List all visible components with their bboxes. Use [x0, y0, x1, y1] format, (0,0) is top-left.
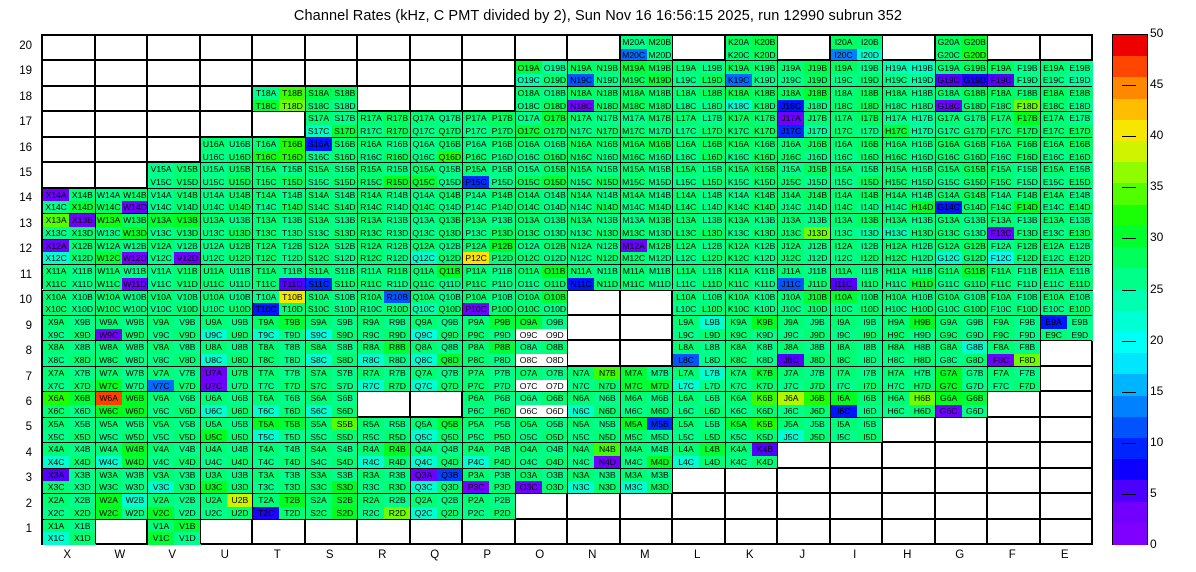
channel-Q13B: Q13B — [437, 214, 463, 227]
channel-J13B: J13B — [804, 214, 830, 227]
channel-H19B: H19B — [909, 61, 935, 74]
x-tick-O: O — [510, 549, 570, 561]
heatmap-cell-I8: I8AI8BI8CI8D — [830, 340, 883, 365]
channel-L5B: L5B — [699, 418, 725, 431]
heatmap-cell-K9: K9AK9BK9CK9D — [725, 315, 778, 340]
channel-I10A: I10A — [831, 291, 857, 304]
channel-S8B: S8B — [332, 341, 358, 354]
channel-N13A: N13A — [568, 214, 594, 227]
channel-J16A: J16A — [778, 138, 804, 151]
channel-P9B: P9B — [489, 316, 515, 329]
heatmap-cell-N14: N14AN14BN14CN14D — [567, 188, 620, 213]
heatmap-cell-H17: H17AH17BH17CH17D — [882, 111, 935, 136]
heatmap-cell-S19 — [305, 60, 358, 85]
channel-H10B: H10B — [909, 291, 935, 304]
channel-K8B: K8B — [752, 341, 778, 354]
channel-O7A: O7A — [516, 367, 542, 380]
heatmap-cell-M11: M11AM11BM11CM11D — [620, 264, 673, 289]
x-tick-G: G — [930, 549, 990, 561]
heatmap-cell-M17: M17AM17BM17CM17D — [620, 111, 673, 136]
channel-Q12A: Q12A — [411, 240, 437, 253]
y-tick-3: 3 — [0, 472, 32, 484]
channel-E9A: E9A — [1041, 316, 1067, 329]
heatmap-cell-S3: S3AS3BS3CS3D — [305, 468, 358, 493]
channel-O13A: O13A — [516, 214, 542, 227]
channel-G10A: G10A — [936, 291, 962, 304]
heatmap-cell-E16: E16AE16BE16CE16D — [1040, 137, 1093, 162]
heatmap-cell-K8: K8AK8BK8CK8D — [725, 340, 778, 365]
channel-T3B: T3B — [279, 469, 305, 482]
colorbar-band-22 — [1113, 502, 1147, 524]
channel-O19B: O19B — [542, 61, 568, 74]
channel-R9B: R9B — [384, 316, 410, 329]
heatmap-cell-N15: N15AN15BN15CN15D — [567, 162, 620, 187]
heatmap-cell-Q12: Q12AQ12BQ12CQ12D — [410, 239, 463, 264]
heatmap-cell-O8: O8AO8BO8CO8D — [515, 340, 568, 365]
heatmap-cell-L19: L19AL19BL19CL19D — [672, 60, 725, 85]
heatmap-cell-P3: P3AP3BP3CP3D — [462, 468, 515, 493]
channel-I8B: I8B — [857, 341, 883, 354]
heatmap-cell-U12: U12AU12BU12CU12D — [200, 239, 253, 264]
heatmap-cell-L9: L9AL9BL9CL9D — [672, 315, 725, 340]
channel-U6A: U6A — [201, 392, 227, 405]
channel-K15A: K15A — [726, 163, 752, 176]
heatmap-cell-T10: T10AT10BT10CT10D — [252, 290, 305, 315]
channel-N16A: N16A — [568, 138, 594, 151]
y-tick-11: 11 — [0, 269, 32, 281]
channel-S13A: S13A — [306, 214, 332, 227]
channel-G11B: G11B — [962, 265, 988, 278]
heatmap-cell-H18: H18AH18BH18CH18D — [882, 86, 935, 111]
channel-M3B: M3B — [647, 469, 673, 482]
channel-W2A: W2A — [96, 494, 122, 507]
channel-E19A: E19A — [1041, 61, 1067, 74]
channel-J14B: J14B — [804, 189, 830, 202]
heatmap-cell-N16: N16AN16BN16CN16D — [567, 137, 620, 162]
y-tick-1: 1 — [0, 523, 32, 535]
heatmap-cell-X20 — [42, 35, 95, 60]
heatmap-cell-M6: M6AM6BM6CM6D — [620, 391, 673, 416]
heatmap-cell-K12: K12AK12BK12CK12D — [725, 239, 778, 264]
heatmap-cell-G5 — [935, 417, 988, 442]
x-tick-E: E — [1035, 549, 1095, 561]
heatmap-cell-N4: N4AN4BN4CN4D — [567, 442, 620, 467]
channel-H15A: H15A — [883, 163, 909, 176]
heatmap-cell-M10 — [620, 290, 673, 315]
x-tick-Q: Q — [405, 549, 465, 561]
heatmap-cell-I17: I17AI17BI17CI17D — [830, 111, 883, 136]
channel-S7B: S7B — [332, 367, 358, 380]
x-tick-K: K — [720, 549, 780, 561]
heatmap-cell-U2: U2AU2BU2CU2D — [200, 493, 253, 518]
heatmap-cell-E7 — [1040, 366, 1093, 391]
heatmap-cell-V9: V9AV9BV9CV9D — [147, 315, 200, 340]
heatmap-cell-H10: H10AH10BH10CH10D — [882, 290, 935, 315]
heatmap-cell-F2 — [987, 493, 1040, 518]
channel-O18B: O18B — [542, 87, 568, 100]
heatmap-cell-R12: R12AR12BR12CR12D — [357, 239, 410, 264]
channel-M17A: M17A — [621, 112, 647, 125]
channel-V4A: V4A — [148, 443, 174, 456]
heatmap-cell-R3: R3AR3BR3CR3D — [357, 468, 410, 493]
channel-F12A: F12A — [988, 240, 1014, 253]
channel-O15B: O15B — [542, 163, 568, 176]
channel-F19A: F19A — [988, 61, 1014, 74]
channel-J17A: J17A — [778, 112, 804, 125]
heatmap-cell-W9: W9AW9BW9CW9D — [95, 315, 148, 340]
heatmap-cell-O12: O12AO12BO12CO12D — [515, 239, 568, 264]
heatmap-cell-S17: S17AS17BS17CS17D — [305, 111, 358, 136]
channel-L8A: L8A — [673, 341, 699, 354]
channel-H18A: H18A — [883, 87, 909, 100]
channel-Q16A: Q16A — [411, 138, 437, 151]
heatmap-cell-N3: N3AN3BN3CN3D — [567, 468, 620, 493]
channel-P10A: P10A — [463, 291, 489, 304]
channel-N19B: N19B — [594, 61, 620, 74]
heatmap-cell-O15: O15AO15BO15CO15D — [515, 162, 568, 187]
heatmap-cell-E1 — [1040, 519, 1093, 544]
channel-Q10A: Q10A — [411, 291, 437, 304]
channel-N17A: N17A — [568, 112, 594, 125]
x-tick-V: V — [142, 549, 202, 561]
channel-K9B: K9B — [752, 316, 778, 329]
channel-X12A: X12A — [43, 240, 69, 253]
heatmap-cell-P5: P5AP5BP5CP5D — [462, 417, 515, 442]
heatmap-cell-G13: G13AG13BG13CG13D — [935, 213, 988, 238]
heatmap-cell-V19 — [147, 60, 200, 85]
heatmap-cell-W17 — [95, 111, 148, 136]
heatmap-cell-I12: I12AI12BI12CI12D — [830, 239, 883, 264]
heatmap-cell-J17: J17AJ17BJ17CJ17D — [777, 111, 830, 136]
channel-T5B: T5B — [279, 418, 305, 431]
x-tick-U: U — [195, 549, 255, 561]
channel-R15A: R15A — [358, 163, 384, 176]
channel-O7B: O7B — [542, 367, 568, 380]
heatmap-cell-U1 — [200, 519, 253, 544]
colorbar-tick-35: 35 — [1150, 179, 1163, 193]
heatmap-cell-M8 — [620, 340, 673, 365]
channel-I13A: I13A — [831, 214, 857, 227]
channel-M13B: M13B — [647, 214, 673, 227]
channel-O6B: O6B — [542, 392, 568, 405]
heatmap-cell-W16 — [95, 137, 148, 162]
channel-F18A: F18A — [988, 87, 1014, 100]
channel-V10A: V10A — [148, 291, 174, 304]
heatmap-cell-V6: V6AV6BV6CV6D — [147, 391, 200, 416]
heatmap-cell-P18 — [462, 86, 515, 111]
channel-E11A: E11A — [1041, 265, 1067, 278]
heatmap-cell-U3: U3AU3BU3CU3D — [200, 468, 253, 493]
heatmap-cell-M13: M13AM13BM13CM13D — [620, 213, 673, 238]
channel-F14B: F14B — [1014, 189, 1040, 202]
channel-E13A: E13A — [1041, 214, 1067, 227]
channel-R15B: R15B — [384, 163, 410, 176]
heatmap-cell-L20 — [672, 35, 725, 60]
channel-N18B: N18B — [594, 87, 620, 100]
channel-L16A: L16A — [673, 138, 699, 151]
channel-Q10B: Q10B — [437, 291, 463, 304]
channel-U9A: U9A — [201, 316, 227, 329]
channel-U12B: U12B — [227, 240, 253, 253]
channel-R9A: R9A — [358, 316, 384, 329]
channel-N6A: N6A — [568, 392, 594, 405]
heatmap-cell-O11: O11AO11BO11CO11D — [515, 264, 568, 289]
heatmap-cell-P19 — [462, 60, 515, 85]
channel-F18B: F18B — [1014, 87, 1040, 100]
heatmap-cell-F10: F10AF10BF10CF10D — [987, 290, 1040, 315]
heatmap-cell-R2: R2AR2BR2CR2D — [357, 493, 410, 518]
heatmap-cell-O5: O5AO5BO5CO5D — [515, 417, 568, 442]
channel-I6A: I6A — [831, 392, 857, 405]
channel-T8A: T8A — [253, 341, 279, 354]
channel-R5B: R5B — [384, 418, 410, 431]
channel-Q13A: Q13A — [411, 214, 437, 227]
heatmap-cell-E20 — [1040, 35, 1093, 60]
channel-W9A: W9A — [96, 316, 122, 329]
heatmap-cell-N6: N6AN6BN6CN6D — [567, 391, 620, 416]
heatmap-cell-O3: O3AO3BO3CO3D — [515, 468, 568, 493]
channel-T8B: T8B — [279, 341, 305, 354]
channel-I17A: I17A — [831, 112, 857, 125]
channel-K15B: K15B — [752, 163, 778, 176]
channel-N13B: N13B — [594, 214, 620, 227]
channel-Q7B: Q7B — [437, 367, 463, 380]
heatmap-cell-Q13: Q13AQ13BQ13CQ13D — [410, 213, 463, 238]
channel-L14A: L14A — [673, 189, 699, 202]
channel-L4B: L4B — [699, 443, 725, 456]
channel-X3A: X3A — [43, 469, 69, 482]
heatmap-cell-L14: L14AL14BL14CL14D — [672, 188, 725, 213]
channel-M11A: M11A — [621, 265, 647, 278]
channel-K20A: K20A — [726, 36, 752, 49]
x-tick-I: I — [825, 549, 885, 561]
heatmap-cell-R14: R14AR14BR14CR14D — [357, 188, 410, 213]
heatmap-cell-R16: R16AR16BR16CR16D — [357, 137, 410, 162]
y-tick-18: 18 — [0, 91, 32, 103]
channel-L15B: L15B — [699, 163, 725, 176]
heatmap-cell-P16: P16AP16BP16CP16D — [462, 137, 515, 162]
heatmap-cell-J4 — [777, 442, 830, 467]
channel-L10B: L10B — [699, 291, 725, 304]
heatmap-cell-V13: V13AV13BV13CV13D — [147, 213, 200, 238]
channel-Q4A: Q4A — [411, 443, 437, 456]
channel-J7A: J7A — [778, 367, 804, 380]
channel-N12B: N12B — [594, 240, 620, 253]
channel-U7B: U7B — [227, 367, 253, 380]
channel-S3B: S3B — [332, 469, 358, 482]
heatmap-cell-N18: N18AN18BN18CN18D — [567, 86, 620, 111]
y-tick-9: 9 — [0, 320, 32, 332]
heatmap-cell-E17: E17AE17BE17CE17D — [1040, 111, 1093, 136]
heatmap-cell-Q10: Q10AQ10BQ10CQ10D — [410, 290, 463, 315]
channel-T7A: T7A — [253, 367, 279, 380]
channel-I18A: I18A — [831, 87, 857, 100]
channel-R8A: R8A — [358, 341, 384, 354]
channel-V10B: V10B — [174, 291, 200, 304]
heatmap-cell-E6 — [1040, 391, 1093, 416]
heatmap-cell-W2: W2AW2BW2CW2D — [95, 493, 148, 518]
channel-O11B: O11B — [542, 265, 568, 278]
x-tick-L: L — [667, 549, 727, 561]
heatmap-cell-K13: K13AK13BK13CK13D — [725, 213, 778, 238]
channel-J5A: J5A — [778, 418, 804, 431]
heatmap-cell-J19: J19AJ19BJ19CJ19D — [777, 60, 830, 85]
channel-K5A: K5A — [726, 418, 752, 431]
heatmap-cell-Q3: Q3AQ3BQ3CQ3D — [410, 468, 463, 493]
channel-Q3A: Q3A — [411, 469, 437, 482]
channel-L8B: L8B — [699, 341, 725, 354]
channel-J15A: J15A — [778, 163, 804, 176]
channel-E17B: E17B — [1067, 112, 1093, 125]
heatmap-cell-P7: P7AP7BP7CP7D — [462, 366, 515, 391]
heatmap-cell-M14: M14AM14BM14CM14D — [620, 188, 673, 213]
channel-S5B: S5B — [332, 418, 358, 431]
heatmap-cell-X5: X5AX5BX5CX5D — [42, 417, 95, 442]
heatmap-cell-F12: F12AF12BF12CF12D — [987, 239, 1040, 264]
heatmap-cell-P10: P10AP10BP10CP10D — [462, 290, 515, 315]
heatmap-cell-X14: X14AX14BX14CX14D — [42, 188, 95, 213]
heatmap-cell-Q19 — [410, 60, 463, 85]
heatmap-cell-N1 — [567, 519, 620, 544]
channel-I5A: I5A — [831, 418, 857, 431]
channel-F16B: F16B — [1014, 138, 1040, 151]
heatmap-cell-V11: V11AV11BV11CV11D — [147, 264, 200, 289]
colorbar-tickmark-15 — [1122, 392, 1136, 393]
channel-S5A: S5A — [306, 418, 332, 431]
channel-N14B: N14B — [594, 189, 620, 202]
channel-R11B: R11B — [384, 265, 410, 278]
channel-O8A: O8A — [516, 341, 542, 354]
channel-I13B: I13B — [857, 214, 883, 227]
channel-K18A: K18A — [726, 87, 752, 100]
channel-F8B: F8B — [1014, 341, 1040, 354]
channel-R7B: R7B — [384, 367, 410, 380]
channel-J17B: J17B — [804, 112, 830, 125]
channel-G7A: G7A — [936, 367, 962, 380]
heatmap-cell-Q1 — [410, 519, 463, 544]
colorbar-band-15 — [1113, 353, 1147, 375]
channel-N17B: N17B — [594, 112, 620, 125]
heatmap-cell-U17 — [200, 111, 253, 136]
heatmap-cell-E2 — [1040, 493, 1093, 518]
heatmap-cell-E15: E15AE15BE15CE15D — [1040, 162, 1093, 187]
channel-H6B: H6B — [909, 392, 935, 405]
channel-H9A: H9A — [883, 316, 909, 329]
heatmap-cell-X4: X4AX4BX4CX4D — [42, 442, 95, 467]
channel-U2B: U2B — [227, 494, 253, 507]
channel-X13B: X13B — [69, 214, 95, 227]
channel-T7B: T7B — [279, 367, 305, 380]
channel-Q2A: Q2A — [411, 494, 437, 507]
colorbar-band-14 — [1113, 332, 1147, 354]
channel-X6B: X6B — [69, 392, 95, 405]
heatmap-cell-S7: S7AS7BS7CS7D — [305, 366, 358, 391]
channel-T5A: T5A — [253, 418, 279, 431]
channel-V3B: V3B — [174, 469, 200, 482]
channel-V1B: V1B — [174, 520, 200, 533]
channel-P17B: P17B — [489, 112, 515, 125]
channel-N15A: N15A — [568, 163, 594, 176]
channel-J16B: J16B — [804, 138, 830, 151]
channel-E14B: E14B — [1067, 189, 1093, 202]
heatmap-cell-U4: U4AU4BU4CU4D — [200, 442, 253, 467]
channel-W11B: W11B — [122, 265, 148, 278]
heatmap-cell-R20 — [357, 35, 410, 60]
channel-F13A: F13A — [988, 214, 1014, 227]
channel-S2B: S2B — [332, 494, 358, 507]
channel-W4A: W4A — [96, 443, 122, 456]
channel-S17B: S17B — [332, 112, 358, 125]
heatmap-cell-S4: S4AS4BS4CS4D — [305, 442, 358, 467]
channel-Q7A: Q7A — [411, 367, 437, 380]
heatmap-cell-R6 — [357, 391, 410, 416]
channel-I20A: I20A — [831, 36, 857, 49]
channel-N3B: N3B — [594, 469, 620, 482]
channel-W6A: W6A — [96, 392, 122, 405]
channel-T6B: T6B — [279, 392, 305, 405]
channel-U5B: U5B — [227, 418, 253, 431]
channel-V7B: V7B — [174, 367, 200, 380]
heatmap-cell-Q17: Q17AQ17BQ17CQ17D — [410, 111, 463, 136]
channel-O8B: O8B — [542, 341, 568, 354]
channel-P3A: P3A — [463, 469, 489, 482]
x-tick-F: F — [982, 549, 1042, 561]
channel-U13A: U13A — [201, 214, 227, 227]
channel-P16B: P16B — [489, 138, 515, 151]
heatmap-cell-R5: R5AR5BR5CR5D — [357, 417, 410, 442]
channel-W2B: W2B — [122, 494, 148, 507]
channel-E10B: E10B — [1067, 291, 1093, 304]
channel-E11B: E11B — [1067, 265, 1093, 278]
heatmap-cell-W1 — [95, 519, 148, 544]
colorbar-band-10 — [1113, 247, 1147, 269]
channel-X1D: X1D — [69, 532, 95, 545]
channel-S6B: S6B — [332, 392, 358, 405]
channel-M7B: M7B — [647, 367, 673, 380]
channel-V8B: V8B — [174, 341, 200, 354]
channel-U4A: U4A — [201, 443, 227, 456]
heatmap-cell-H7: H7AH7BH7CH7D — [882, 366, 935, 391]
heatmap-cell-T12: T12AT12BT12CT12D — [252, 239, 305, 264]
channel-R3A: R3A — [358, 469, 384, 482]
channel-T14B: T14B — [279, 189, 305, 202]
channel-W11A: W11A — [96, 265, 122, 278]
channel-G16B: G16B — [962, 138, 988, 151]
channel-G12B: G12B — [962, 240, 988, 253]
heatmap-cell-K2 — [725, 493, 778, 518]
channel-S9A: S9A — [306, 316, 332, 329]
channel-L7B: L7B — [699, 367, 725, 380]
heatmap-cell-M2 — [620, 493, 673, 518]
heatmap-cell-T8: T8AT8BT8CT8D — [252, 340, 305, 365]
heatmap-cell-P11: P11AP11BP11CP11D — [462, 264, 515, 289]
channel-H18B: H18B — [909, 87, 935, 100]
heatmap-cell-G10: G10AG10BG10CG10D — [935, 290, 988, 315]
channel-H7A: H7A — [883, 367, 909, 380]
channel-X11A: X11A — [43, 265, 69, 278]
heatmap-cell-F17: F17AF17BF17CF17D — [987, 111, 1040, 136]
channel-J10A: J10A — [778, 291, 804, 304]
heatmap-cell-J9: J9AJ9BJ9CJ9D — [777, 315, 830, 340]
channel-L17B: L17B — [699, 112, 725, 125]
channel-J12B: J12B — [804, 240, 830, 253]
heatmap-cell-L2 — [672, 493, 725, 518]
channel-S7A: S7A — [306, 367, 332, 380]
colorbar-tickmark-40 — [1122, 136, 1136, 137]
channel-T16B: T16B — [279, 138, 305, 151]
channel-K4A: K4A — [726, 443, 752, 456]
channel-G16A: G16A — [936, 138, 962, 151]
